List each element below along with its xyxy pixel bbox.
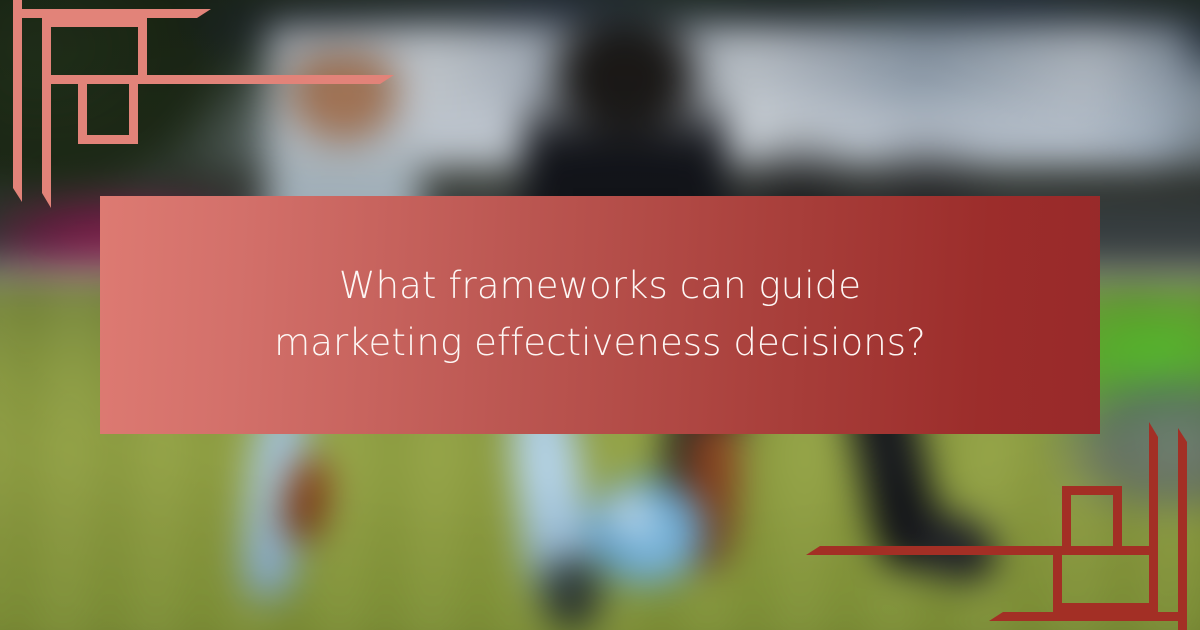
ornament-outer-vertical-tip [1178,428,1187,442]
question-card: What frameworks can guide marketing effe… [0,0,1200,630]
ornament-outer-horizontal-tip [989,612,1003,621]
page-title: What frameworks can guide marketing effe… [250,258,950,371]
ornament-inner-vertical-tip [1149,422,1158,437]
ornament-outer-vertical-bar [13,0,22,188]
ornament-inner-vertical-tip [42,193,51,208]
ornament-hook-horizontal [1053,603,1149,612]
ornament-hook-vertical [1053,546,1062,612]
ornament-square-top-edge [78,75,147,84]
ornament-open-square [1062,486,1122,546]
corner-ornament-bottom-right [990,420,1200,630]
corner-ornament-top-left [0,0,210,210]
ornament-square-top-edge [1053,546,1122,555]
ornament-outer-vertical-tip [13,188,22,202]
question-banner: What frameworks can guide marketing effe… [100,196,1100,434]
ornament-hook-horizontal [51,18,147,27]
ornament-outer-horizontal-bar [13,9,197,18]
ornament-outer-vertical-bar [1178,442,1187,630]
ornament-outer-horizontal-bar [1003,612,1187,621]
ornament-open-square [78,84,138,144]
ornament-inner-vertical-bar [42,18,51,193]
ornament-inner-vertical-bar [1149,437,1158,612]
ornament-outer-horizontal-tip [197,9,211,18]
